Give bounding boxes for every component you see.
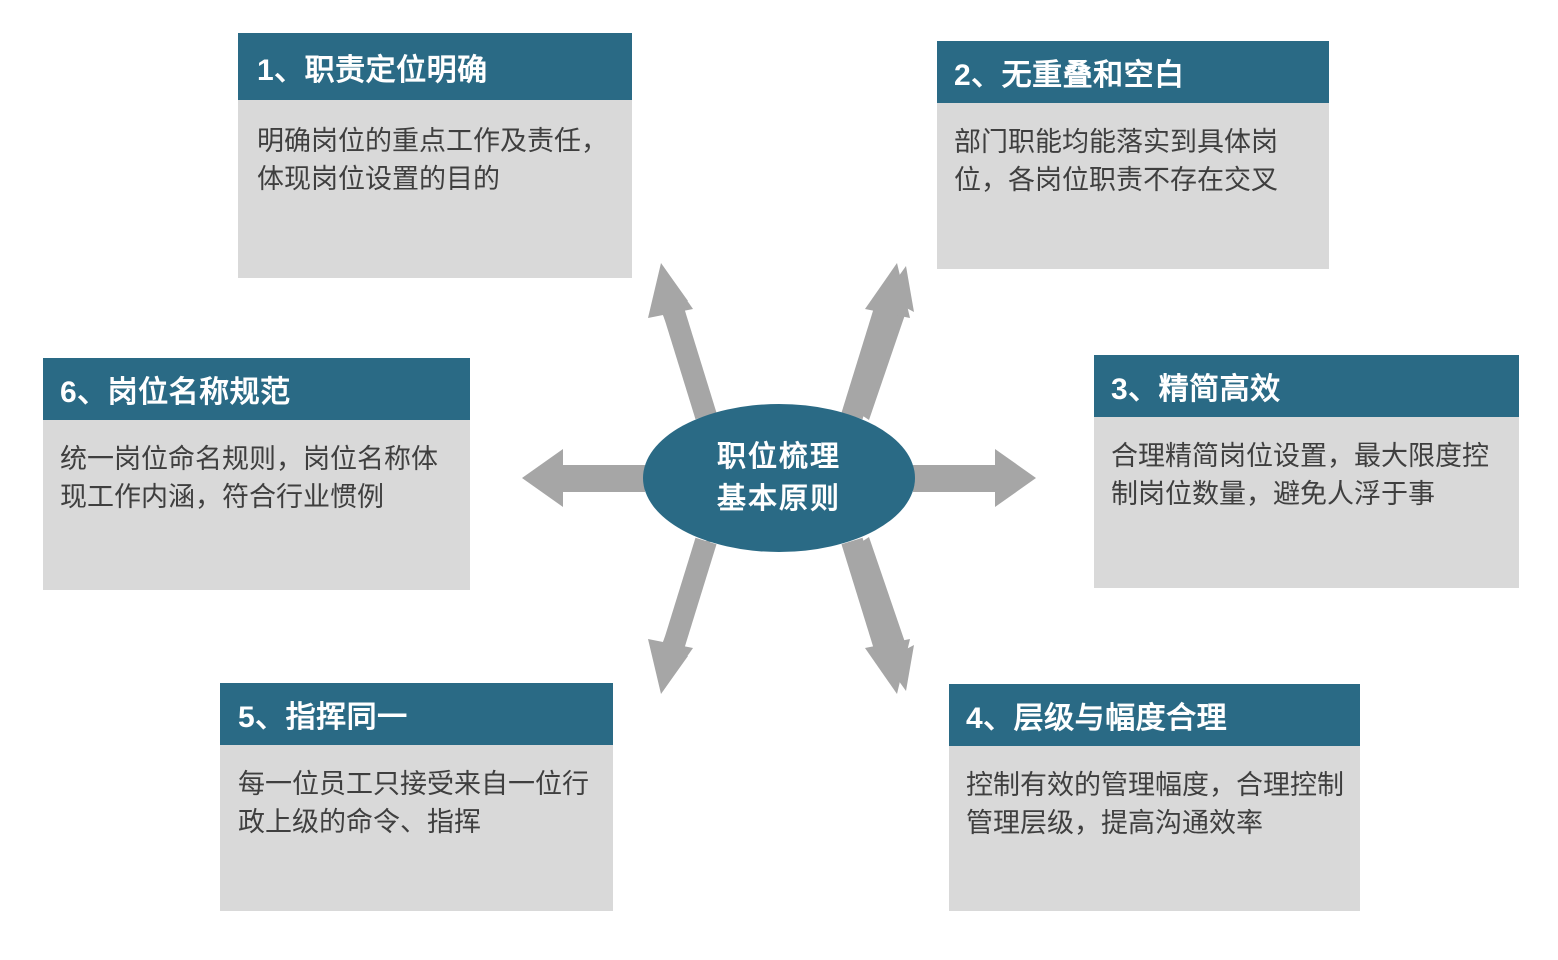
center-hub-line-2: 基本原则 — [717, 478, 841, 520]
principle-card-2-body: 部门职能均能落实到具体岗位，各岗位职责不存在交叉 — [937, 103, 1329, 269]
diagram-canvas: 1、职责定位明确 明确岗位的重点工作及责任，体现岗位设置的目的 2、无重叠和空白… — [0, 0, 1558, 960]
principle-card-3-title: 3、精简高效 — [1094, 355, 1519, 417]
arrow-left-icon — [522, 449, 645, 507]
principle-card-6[interactable]: 6、岗位名称规范 统一岗位命名规则，岗位名称体现工作内涵，符合行业惯例 — [43, 358, 470, 590]
arrow-right-icon — [913, 449, 1036, 507]
principle-card-3-body: 合理精简岗位设置，最大限度控制岗位数量，避免人浮于事 — [1094, 417, 1519, 588]
arrow-up-left-head — [648, 263, 693, 318]
principle-card-1[interactable]: 1、职责定位明确 明确岗位的重点工作及责任，体现岗位设置的目的 — [238, 33, 632, 278]
principle-card-6-title: 6、岗位名称规范 — [43, 358, 470, 420]
principle-card-2[interactable]: 2、无重叠和空白 部门职能均能落实到具体岗位，各岗位职责不存在交叉 — [937, 41, 1329, 269]
principle-card-5-title: 5、指挥同一 — [220, 683, 613, 745]
principle-card-6-body: 统一岗位命名规则，岗位名称体现工作内涵，符合行业惯例 — [43, 420, 470, 590]
principle-card-1-body: 明确岗位的重点工作及责任，体现岗位设置的目的 — [238, 100, 632, 278]
principle-card-1-title: 1、职责定位明确 — [238, 33, 632, 100]
center-hub-line-1: 职位梳理 — [717, 436, 841, 478]
principle-card-3[interactable]: 3、精简高效 合理精简岗位设置，最大限度控制岗位数量，避免人浮于事 — [1094, 355, 1519, 588]
principle-card-4-title: 4、层级与幅度合理 — [949, 684, 1360, 746]
center-hub[interactable]: 职位梳理 基本原则 — [643, 404, 915, 552]
principle-card-2-title: 2、无重叠和空白 — [937, 41, 1329, 103]
principle-card-5[interactable]: 5、指挥同一 每一位员工只接受来自一位行政上级的命令、指挥 — [220, 683, 613, 911]
arrow-down-left-shaft — [672, 541, 706, 651]
principle-card-4[interactable]: 4、层级与幅度合理 控制有效的管理幅度，合理控制管理层级，提高沟通效率 — [949, 684, 1360, 911]
arrow-up-left-shaft — [672, 306, 706, 416]
arrow-down-left-head — [648, 639, 693, 694]
principle-card-4-body: 控制有效的管理幅度，合理控制管理层级，提高沟通效率 — [949, 746, 1360, 911]
principle-card-5-body: 每一位员工只接受来自一位行政上级的命令、指挥 — [220, 745, 613, 911]
